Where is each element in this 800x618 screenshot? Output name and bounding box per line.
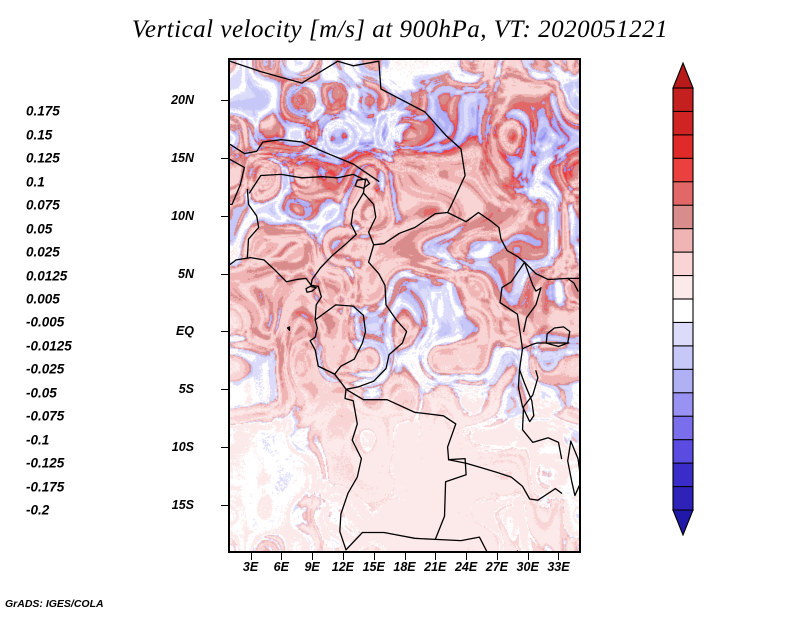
map-plot-area[interactable] bbox=[228, 58, 581, 553]
colorbar-tick-label: -0.025 bbox=[26, 362, 64, 377]
latitude-tick-label: EQ bbox=[176, 324, 194, 338]
colorbar-tick-label: -0.05 bbox=[26, 385, 57, 400]
latitude-tick-mark bbox=[221, 447, 228, 448]
colorbar-tick-label: -0.175 bbox=[26, 479, 64, 494]
latitude-tick-mark bbox=[221, 216, 228, 217]
colorbar-tick-label: 0.005 bbox=[26, 292, 60, 307]
longitude-tick-label: 9E bbox=[304, 560, 319, 574]
longitude-tick-mark bbox=[558, 553, 559, 560]
latitude-tick-mark bbox=[221, 505, 228, 506]
latitude-tick-label: 10S bbox=[172, 440, 194, 454]
latitude-tick-label: 10N bbox=[171, 209, 194, 223]
country-borders-overlay bbox=[230, 60, 579, 551]
latitude-tick-mark bbox=[221, 389, 228, 390]
longitude-tick-label: 6E bbox=[274, 560, 289, 574]
longitude-tick-mark bbox=[281, 553, 282, 560]
colorbar-tick-label: -0.0125 bbox=[26, 338, 72, 353]
longitude-tick-mark bbox=[343, 553, 344, 560]
longitude-tick-label: 3E bbox=[243, 560, 258, 574]
longitude-tick-mark bbox=[435, 553, 436, 560]
latitude-tick-mark bbox=[221, 100, 228, 101]
latitude-tick-mark bbox=[221, 274, 228, 275]
longitude-tick-label: 24E bbox=[455, 560, 477, 574]
latitude-tick-label: 5N bbox=[178, 267, 194, 281]
longitude-tick-label: 12E bbox=[332, 560, 354, 574]
longitude-tick-label: 27E bbox=[486, 560, 508, 574]
longitude-tick-mark bbox=[405, 553, 406, 560]
longitude-tick-label: 33E bbox=[547, 560, 569, 574]
colorbar-tick-label: -0.125 bbox=[26, 456, 64, 471]
colorbar-tick-label: -0.005 bbox=[26, 315, 64, 330]
colorbar[interactable] bbox=[673, 62, 693, 536]
colorbar-tick-label: -0.1 bbox=[26, 432, 49, 447]
colorbar-tick-label: 0.075 bbox=[26, 198, 60, 213]
latitude-tick-label: 15S bbox=[172, 498, 194, 512]
colorbar-tick-label: 0.175 bbox=[26, 104, 60, 119]
longitude-tick-label: 30E bbox=[517, 560, 539, 574]
colorbar-tick-label: 0.125 bbox=[26, 151, 60, 166]
colorbar-tick-label: 0.1 bbox=[26, 174, 45, 189]
credit-text: GrADS: IGES/COLA bbox=[5, 598, 104, 610]
latitude-tick-label: 15N bbox=[171, 151, 194, 165]
longitude-tick-mark bbox=[374, 553, 375, 560]
colorbar-tick-label: 0.05 bbox=[26, 221, 52, 236]
longitude-tick-label: 18E bbox=[393, 560, 415, 574]
latitude-tick-mark bbox=[221, 158, 228, 159]
longitude-tick-mark bbox=[497, 553, 498, 560]
latitude-tick-mark bbox=[221, 331, 228, 332]
colorbar-tick-label: -0.075 bbox=[26, 409, 64, 424]
colorbar-tick-label: 0.15 bbox=[26, 127, 52, 142]
colorbar-tick-label: -0.2 bbox=[26, 503, 49, 518]
longitude-tick-mark bbox=[528, 553, 529, 560]
longitude-tick-label: 21E bbox=[424, 560, 446, 574]
longitude-tick-mark bbox=[251, 553, 252, 560]
longitude-tick-label: 15E bbox=[363, 560, 385, 574]
latitude-tick-label: 20N bbox=[171, 93, 194, 107]
latitude-tick-label: 5S bbox=[179, 382, 194, 396]
colorbar-tick-label: 0.0125 bbox=[26, 268, 67, 283]
page-title: Vertical velocity [m/s] at 900hPa, VT: 2… bbox=[0, 16, 800, 44]
longitude-tick-mark bbox=[466, 553, 467, 560]
colorbar-tick-label: 0.025 bbox=[26, 245, 60, 260]
longitude-tick-mark bbox=[312, 553, 313, 560]
